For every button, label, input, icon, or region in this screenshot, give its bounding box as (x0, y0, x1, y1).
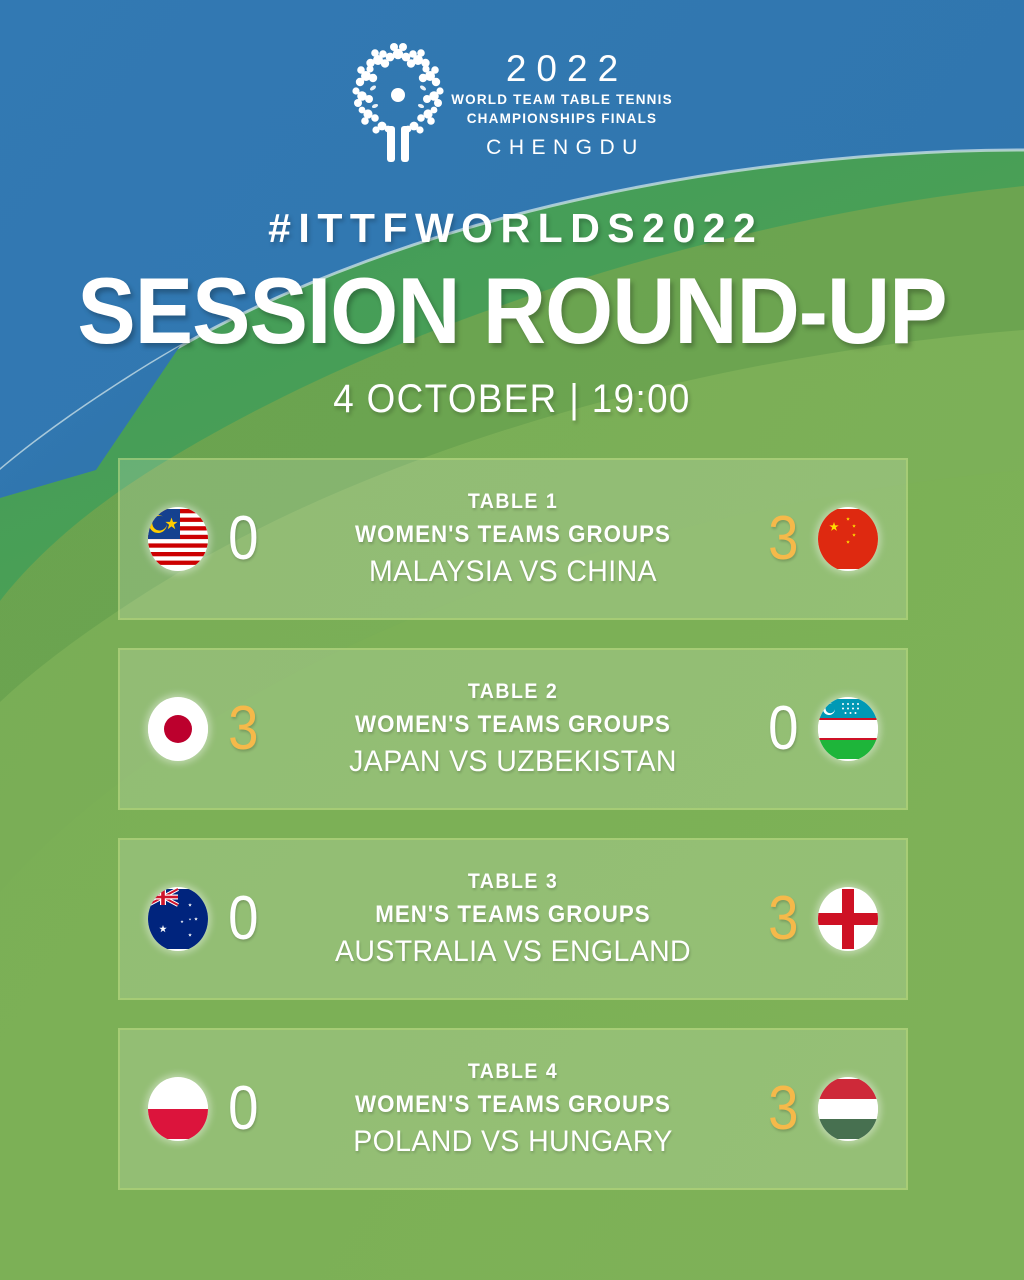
match-card[interactable]: 0 TABLE 1 WOMEN'S TEAMS GROUPS MALAYSIA … (118, 458, 908, 620)
session-datetime: 4 OCTOBER | 19:00 (41, 377, 983, 422)
flag-australia-icon (148, 887, 208, 951)
logo-line-2: CHAMPIONSHIPS FINALS (467, 110, 658, 129)
match-event-label: WOMEN'S TEAMS GROUPS (325, 518, 701, 552)
match-teams-label: JAPAN VS UZBEKISTAN (321, 742, 705, 782)
match-left-score: 0 (228, 508, 258, 570)
match-event-label: WOMEN'S TEAMS GROUPS (325, 1088, 701, 1122)
flag-hungary-icon (818, 1077, 878, 1141)
match-right-team: 3 (721, 1077, 906, 1141)
match-info: TABLE 1 WOMEN'S TEAMS GROUPS MALAYSIA VS… (305, 486, 721, 592)
match-left-score: 0 (228, 888, 258, 950)
logo-line-1: WORLD TEAM TABLE TENNIS (451, 91, 673, 110)
flag-england-icon (818, 887, 878, 951)
match-right-score: 3 (768, 888, 798, 950)
match-table-label: TABLE 4 (325, 1056, 701, 1088)
match-info: TABLE 3 MEN'S TEAMS GROUPS AUSTRALIA VS … (305, 866, 721, 972)
match-left-team: 0 (120, 887, 305, 951)
match-event-label: WOMEN'S TEAMS GROUPS (325, 708, 701, 742)
match-right-team: 3 (721, 507, 906, 571)
match-right-score: 0 (768, 698, 798, 760)
match-card[interactable]: 3 TABLE 2 WOMEN'S TEAMS GROUPS JAPAN VS … (118, 648, 908, 810)
logo-year: 2022 (496, 50, 628, 89)
match-left-score: 3 (228, 698, 258, 760)
match-teams-label: MALAYSIA VS CHINA (321, 552, 705, 592)
match-list: 0 TABLE 1 WOMEN'S TEAMS GROUPS MALAYSIA … (118, 458, 908, 1190)
match-card[interactable]: 0 TABLE 4 WOMEN'S TEAMS GROUPS POLAND VS… (118, 1028, 908, 1190)
match-teams-label: POLAND VS HUNGARY (321, 1122, 705, 1162)
match-right-score: 3 (768, 1078, 798, 1140)
match-card[interactable]: 0 TABLE 3 MEN'S TEAMS GROUPS AUSTRALIA V… (118, 838, 908, 1000)
match-table-label: TABLE 3 (325, 866, 701, 898)
match-left-team: 0 (120, 507, 305, 571)
match-right-team: 0 (721, 697, 906, 761)
match-info: TABLE 4 WOMEN'S TEAMS GROUPS POLAND VS H… (305, 1056, 721, 1162)
match-left-team: 0 (120, 1077, 305, 1141)
flag-china-icon (818, 507, 878, 571)
match-left-score: 0 (228, 1078, 258, 1140)
match-table-label: TABLE 1 (325, 486, 701, 518)
ittf-chengdu-wreath-paddle-logo-icon (351, 40, 447, 166)
match-teams-label: AUSTRALIA VS ENGLAND (321, 932, 705, 972)
match-info: TABLE 2 WOMEN'S TEAMS GROUPS JAPAN VS UZ… (305, 676, 721, 782)
flag-poland-icon (148, 1077, 208, 1141)
page-title: SESSION ROUND-UP (36, 262, 988, 361)
match-table-label: TABLE 2 (325, 676, 701, 708)
match-event-label: MEN'S TEAMS GROUPS (325, 898, 701, 932)
flag-malaysia-icon (148, 507, 208, 571)
flag-japan-icon (148, 697, 208, 761)
logo-city: CHENGDU (479, 136, 645, 160)
match-right-score: 3 (768, 508, 798, 570)
hashtag: #ITTFWORLDS2022 (0, 205, 1024, 252)
match-left-team: 3 (120, 697, 305, 761)
match-right-team: 3 (721, 887, 906, 951)
event-logo: 2022 WORLD TEAM TABLE TENNIS CHAMPIONSHI… (0, 40, 1024, 166)
flag-uzbekistan-icon (818, 697, 878, 761)
